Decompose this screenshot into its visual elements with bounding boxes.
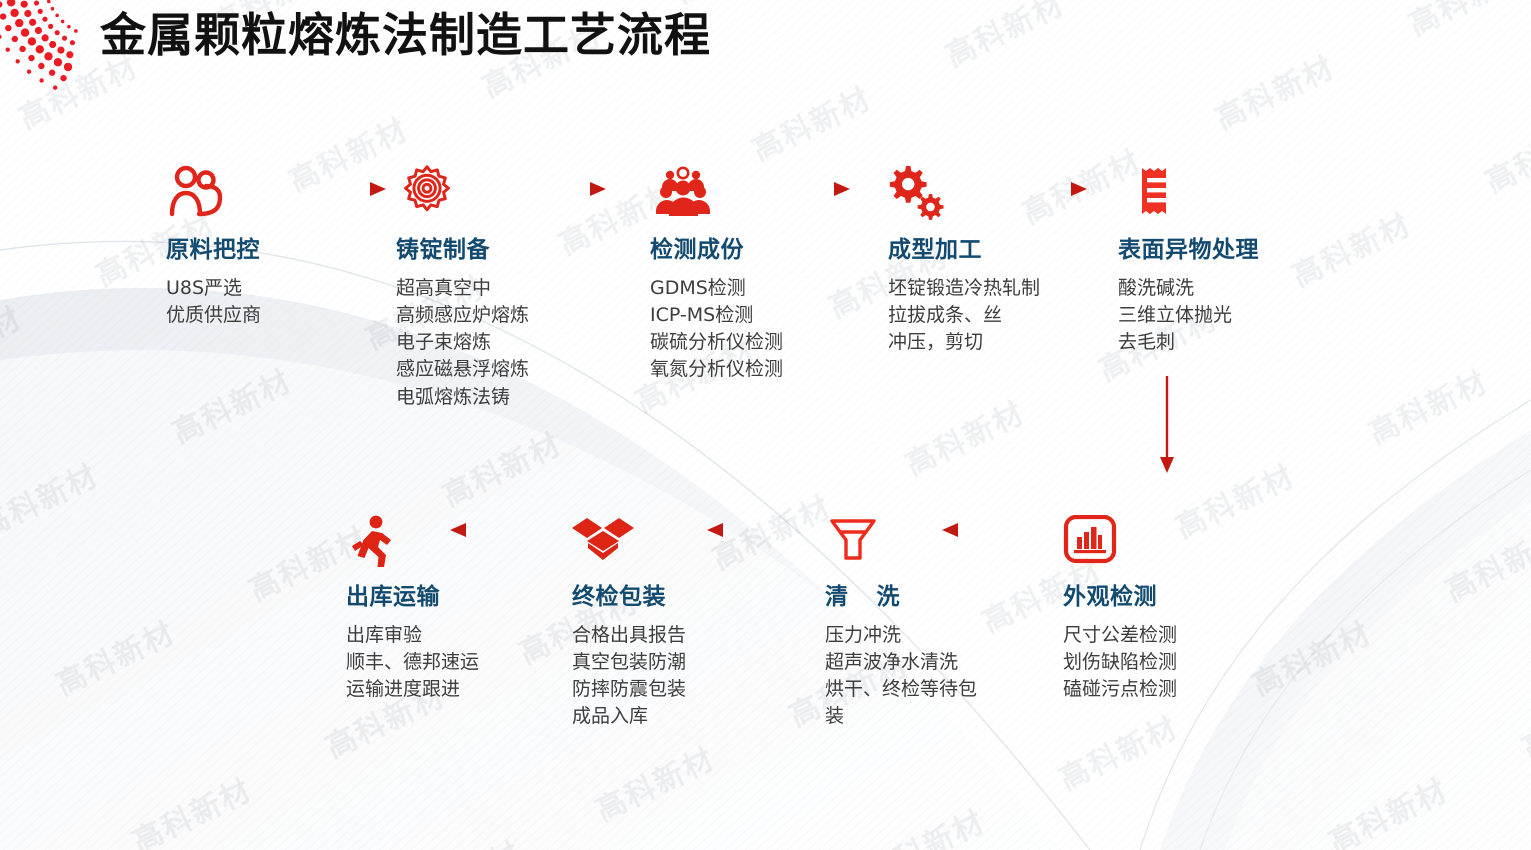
open-box-icon	[572, 505, 686, 567]
step-item: 电子束熔炼	[396, 329, 529, 356]
step-title: 原料把控	[166, 230, 261, 264]
step-outbound-transport[interactable]: 出库运输 出库审验 顺丰、德邦速运 运输进度跟进	[346, 505, 479, 703]
step-title-part1: 清	[825, 584, 849, 610]
watermark-text: 高科新材	[1477, 67, 1531, 319]
step-item: 拉拔成条、丝	[888, 302, 1040, 329]
step-item: 三维立体抛光	[1118, 302, 1259, 329]
step-item: 成品入库	[572, 703, 686, 730]
step-item-list: U8S严选 优质供应商	[166, 275, 261, 329]
watermark-text: 高科新材	[1400, 0, 1531, 162]
arrow-right-2	[518, 180, 608, 198]
step-title: 成型加工	[888, 230, 1040, 264]
step-title: 出库运输	[346, 577, 479, 611]
arrow-down-5	[1158, 376, 1176, 476]
watermark-text: 高科新材	[124, 727, 394, 850]
background-swoosh-decoration	[0, 0, 1531, 850]
step-item: 高频感应炉熔炼	[396, 302, 529, 329]
watermark-layer: 高科新材高科新材高科新材高科新材高科新材高科新材高科新材高科新材高科新材高科新材…	[0, 0, 1531, 850]
step-title: 外观检测	[1063, 577, 1177, 611]
step-item: 优质供应商	[166, 302, 261, 329]
step-item-list: 酸洗碱洗 三维立体抛光 去毛刺	[1118, 275, 1259, 356]
step-item: 划伤缺陷检测	[1063, 649, 1177, 676]
funnel-icon	[825, 505, 1040, 567]
step-item: 合格出具报告	[572, 622, 686, 649]
step-item-list: 合格出具报告 真空包装防潮 防摔防震包装 成品入库	[572, 622, 686, 731]
step-item-list: 坯锭锻造冷热轧制 拉拔成条、丝 冲压，剪切	[888, 275, 1040, 356]
corner-dot-arc-decoration	[0, 0, 114, 104]
watermark-text: 高科新材	[0, 821, 201, 850]
step-item: ICP-MS检测	[650, 302, 783, 329]
background-stripe-texture	[0, 0, 1531, 850]
step-final-inspection-packaging[interactable]: 终检包装 合格出具报告 真空包装防潮 防摔防震包装 成品入库	[572, 505, 686, 731]
watermark-text: 高科新材	[1513, 634, 1531, 850]
page-title: 金属颗粒熔炼法制造工艺流程	[100, 6, 711, 66]
step-item-list: GDMS检测 ICP-MS检测 碳硫分析仪检测 氧氮分析仪检测	[650, 275, 783, 384]
watermark-text: 高科新材	[1360, 319, 1531, 571]
watermark-text: 高科新材	[0, 255, 164, 507]
step-item: 电弧熔炼法铸	[396, 384, 529, 411]
step-item-list: 超高真空中 高频感应炉熔炼 电子束熔炼 感应磁悬浮熔炼 电弧熔炼法铸	[396, 275, 529, 411]
step-item: 感应磁悬浮熔炼	[396, 356, 529, 383]
arrow-right-1	[298, 180, 388, 198]
step-item: 磕碰污点检测	[1063, 676, 1177, 703]
step-item: 顺丰、德邦速运	[346, 649, 479, 676]
step-title: 清 洗	[825, 577, 1040, 611]
watermark-text: 高科新材	[394, 790, 664, 850]
step-raw-material-control[interactable]: 原料把控 U8S严选 优质供应商	[166, 158, 261, 329]
step-ingot-preparation[interactable]: 铸锭制备 超高真空中 高频感应炉熔炼 电子束熔炼 感应磁悬浮熔炼 电弧熔炼法铸	[396, 158, 529, 411]
watermark-text: 高科新材	[1243, 570, 1513, 822]
step-item: 烘干、终检等待包装	[825, 676, 985, 730]
step-item-list: 尺寸公差检测 划伤缺陷检测 磕碰污点检测	[1063, 622, 1177, 703]
step-title: 终检包装	[572, 577, 686, 611]
watermark-text: 高科新材	[0, 507, 47, 759]
step-item: 防摔防震包装	[572, 676, 686, 703]
watermark-text: 高科新材	[860, 0, 1130, 36]
step-title: 铸锭制备	[396, 230, 529, 264]
factory-icon	[1063, 505, 1177, 567]
step-item: 酸洗碱洗	[1118, 275, 1259, 302]
users-icon	[166, 158, 261, 220]
step-item: 去毛刺	[1118, 329, 1259, 356]
gear-target-icon	[396, 158, 529, 220]
watermark-text: 高科新材	[0, 664, 124, 850]
step-item: 压力冲洗	[825, 622, 985, 649]
walking-person-icon	[346, 505, 479, 567]
arrow-right-4	[999, 180, 1089, 198]
step-title: 表面异物处理	[1118, 230, 1259, 264]
watermark-text: 高科新材	[1127, 822, 1397, 850]
step-item: 运输进度跟进	[346, 676, 479, 703]
watermark-text: 高科新材	[1167, 413, 1437, 665]
step-title-part2: 洗	[877, 584, 901, 610]
step-item: 坯锭锻造冷热轧制	[888, 275, 1040, 302]
step-surface-treatment[interactable]: 表面异物处理 酸洗碱洗 三维立体抛光 去毛刺	[1118, 158, 1259, 356]
step-item: 超声波净水清洗	[825, 649, 985, 676]
slide-canvas: 高科新材高科新材高科新材高科新材高科新材高科新材高科新材高科新材高科新材高科新材…	[0, 0, 1531, 850]
step-item: 超高真空中	[396, 275, 529, 302]
step-item-list: 出库审验 顺丰、德邦速运 运输进度跟进	[346, 622, 479, 703]
step-cleaning[interactable]: 清 洗 压力冲洗 超声波净水清洗 烘干、终检等待包装	[825, 505, 1040, 731]
watermark-text: 高科新材	[1437, 476, 1531, 728]
step-item: U8S严选	[166, 275, 261, 302]
arrow-left-7	[705, 521, 795, 539]
step-title: 检测成份	[650, 230, 783, 264]
step-item: 真空包装防潮	[572, 649, 686, 676]
step-item: 尺寸公差检测	[1063, 622, 1177, 649]
step-item: 碳硫分析仪检测	[650, 329, 783, 356]
watermark-text: 高科新材	[1130, 0, 1400, 99]
receipt-icon	[1118, 158, 1259, 220]
watermark-text: 高科新材	[1320, 728, 1531, 850]
watermark-text: 高科新材	[857, 759, 1127, 850]
watermark-text: 高科新材	[1323, 0, 1531, 4]
step-item: 氧氮分析仪检测	[650, 356, 783, 383]
step-item: 冲压，剪切	[888, 329, 1040, 356]
watermark-text: 高科新材	[0, 413, 240, 665]
step-item-list: 压力冲洗 超声波净水清洗 烘干、终检等待包装	[825, 622, 985, 731]
arrow-right-3	[762, 180, 852, 198]
step-item: 出库审验	[346, 622, 479, 649]
watermark-text: 高科新材	[0, 98, 87, 350]
watermark-text: 高科新材	[47, 570, 317, 822]
watermark-text: 高科新材	[1283, 162, 1531, 414]
step-appearance-inspection[interactable]: 外观检测 尺寸公差检测 划伤缺陷检测 磕碰污点检测	[1063, 505, 1177, 703]
step-item: GDMS检测	[650, 275, 783, 302]
